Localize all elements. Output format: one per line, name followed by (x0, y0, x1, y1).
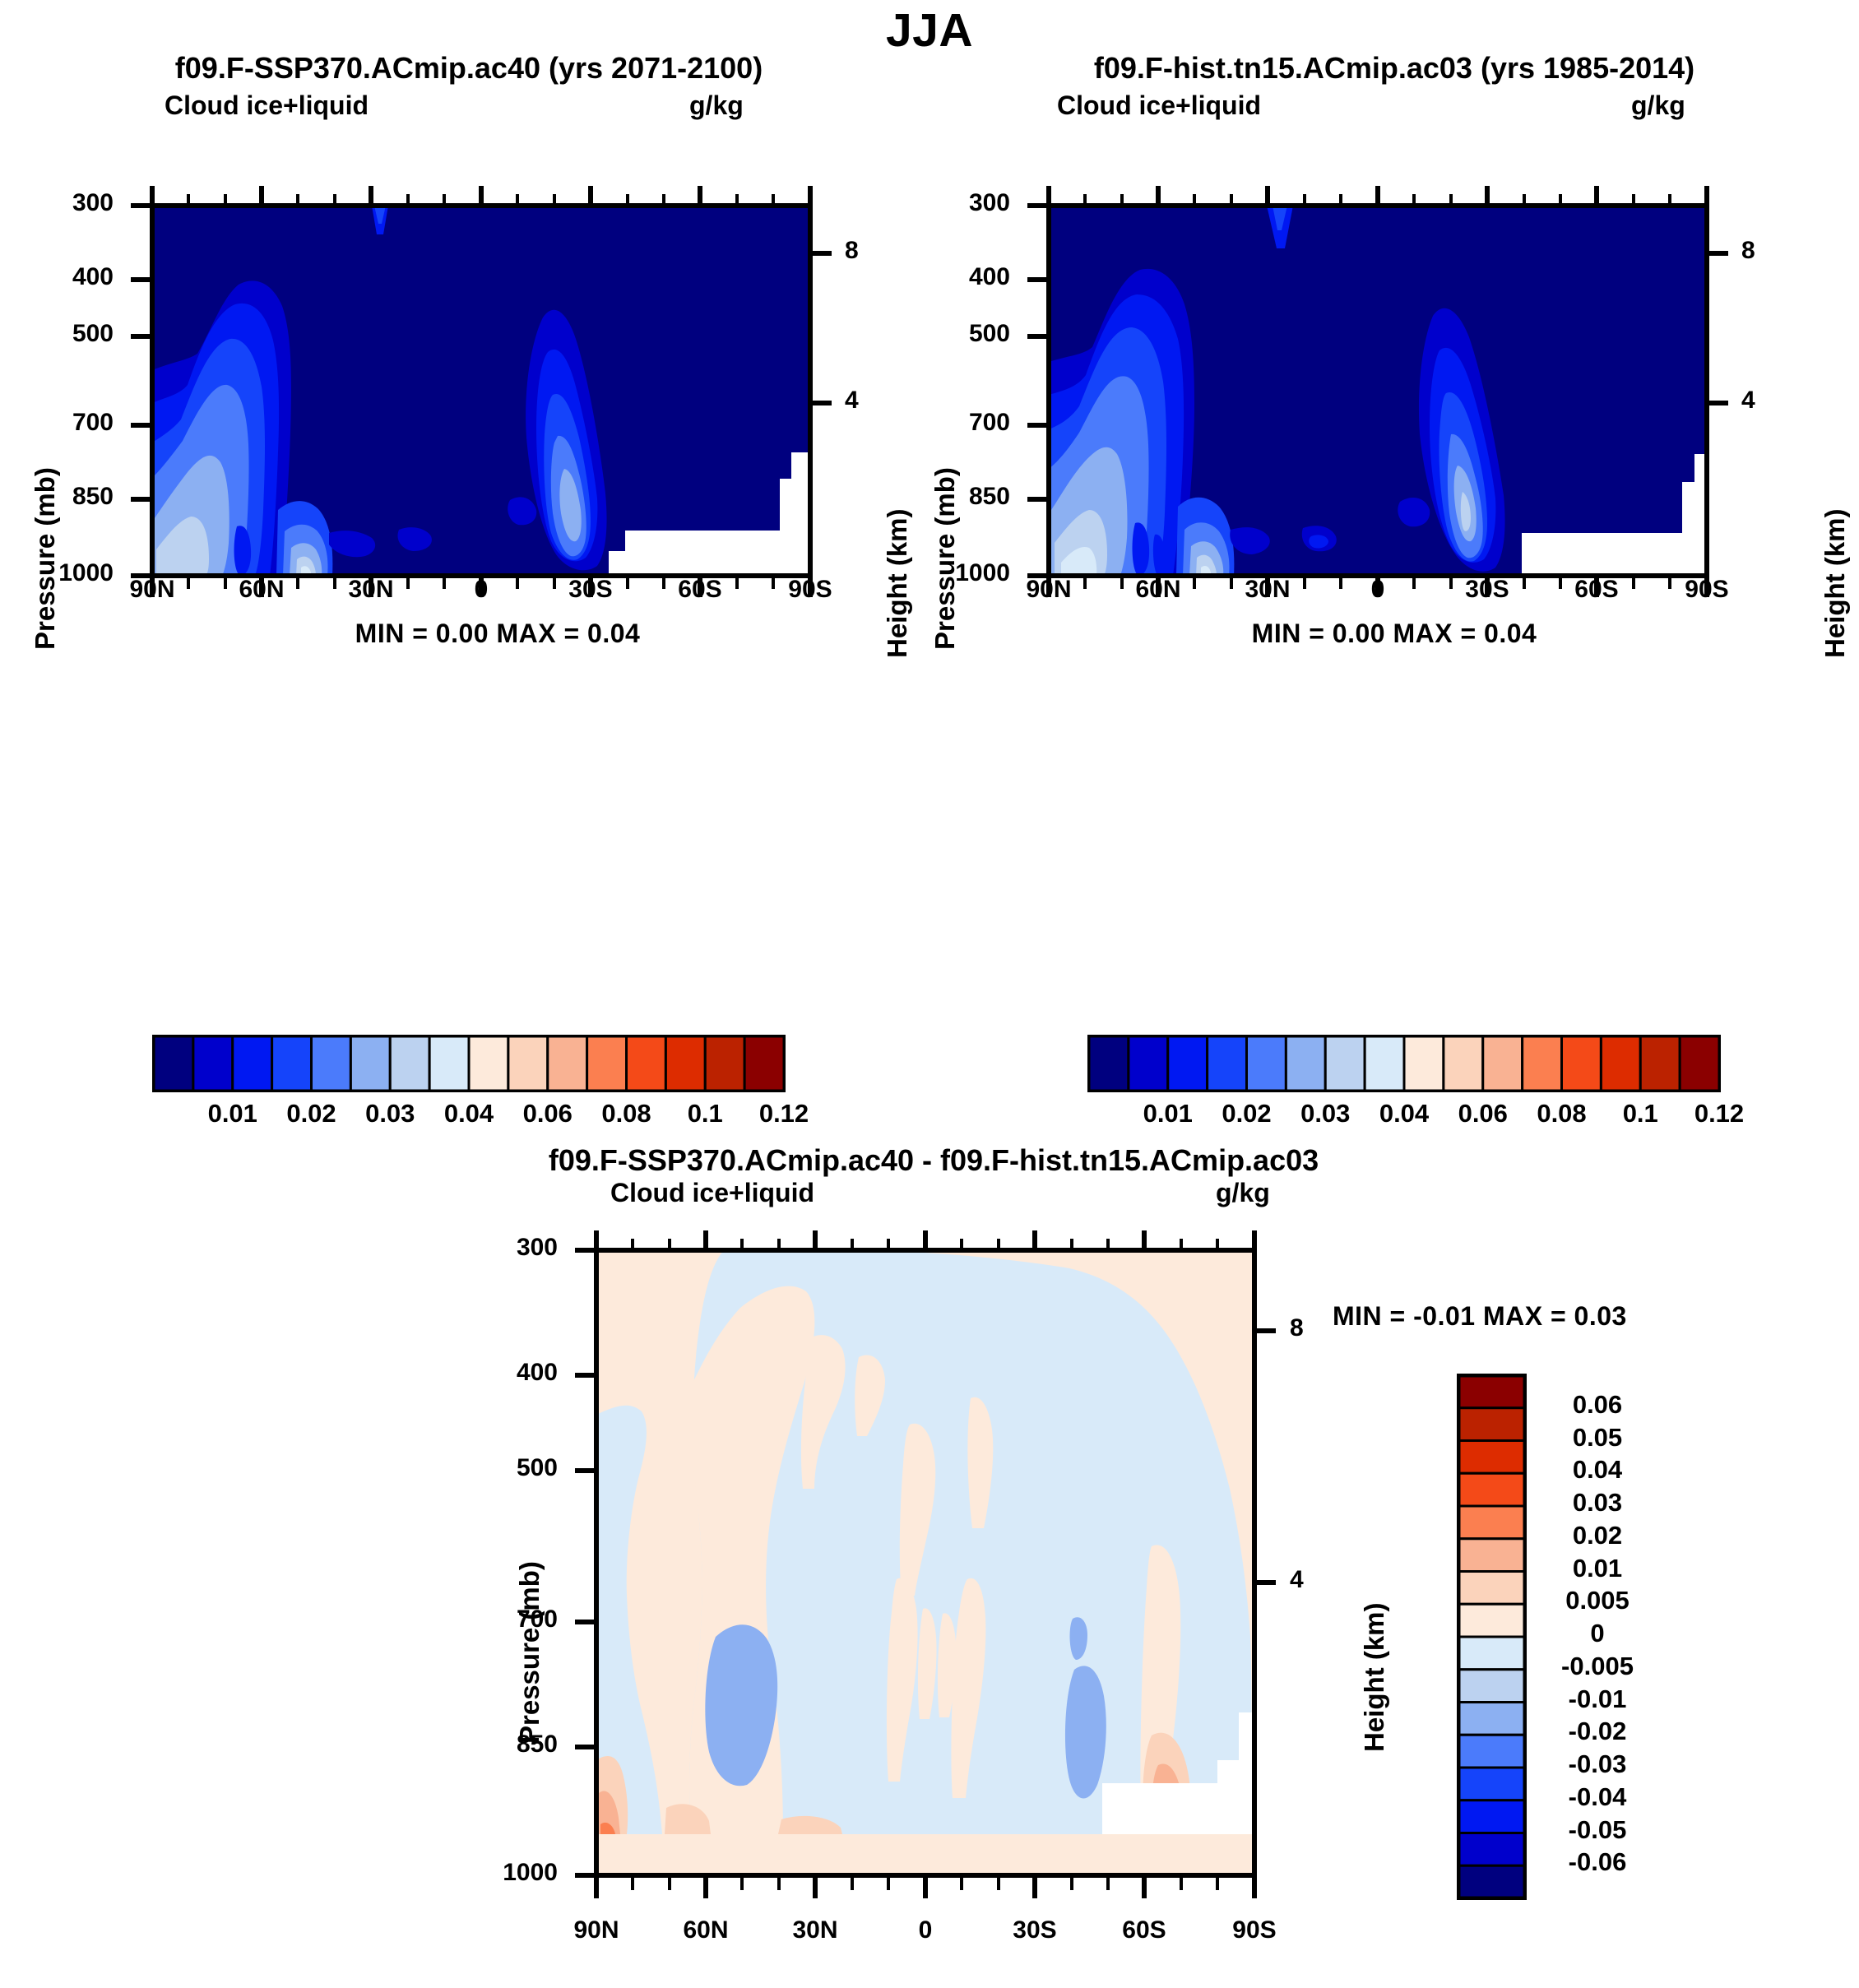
colorbar-tick-label: 0.02 (1532, 1521, 1663, 1550)
colorbar-swatch (390, 1036, 429, 1091)
colorbar-swatch (233, 1036, 272, 1091)
xtick-30N-top-left: 30N (322, 576, 420, 604)
minmax-bottom: MIN = -0.01 MAX = 0.03 (1333, 1301, 1627, 1332)
colorbar-tick-label: 0.04 (1532, 1455, 1663, 1485)
panel-title-bottom: f09.F-SSP370.ACmip.ac40 - f09.F-hist.tn1… (387, 1143, 1481, 1178)
colorbar-labels-top-left: 0.010.020.030.040.060.080.10.12 (152, 1099, 786, 1135)
colorbar-tick-label: 0 (1532, 1619, 1663, 1648)
colorbar-swatch (1458, 1800, 1525, 1833)
variable-label-top-right: Cloud ice+liquid (1057, 90, 1261, 121)
colorbar-swatch (1458, 1408, 1525, 1441)
xtick-0-top-right: 0 (1328, 576, 1427, 604)
variable-label-top-left: Cloud ice+liquid (165, 90, 369, 121)
colorbar-swatch (1458, 1375, 1525, 1408)
colorbar-bottom[interactable] (1457, 1374, 1527, 1900)
variable-label-bottom: Cloud ice+liquid (610, 1178, 814, 1208)
colorbar-tick-label: 0.03 (1280, 1099, 1370, 1128)
xtick-30N-bottom: 30N (766, 1916, 865, 1944)
colorbar-tick-label: 0.12 (1674, 1099, 1764, 1128)
ytick-700-bottom: 700 (492, 1606, 558, 1633)
minmax-top-left: MIN = 0.00 MAX = 0.04 (82, 619, 913, 649)
colorbar-swatch (1458, 1506, 1525, 1539)
colorbar-swatch (1458, 1833, 1525, 1866)
colorbar-swatch (1483, 1036, 1523, 1091)
units-label-top-right: g/kg (1631, 90, 1685, 121)
colorbar-tick-label: 0.05 (1532, 1423, 1663, 1453)
y2axis-title-top-right: Height (km) (1820, 509, 1851, 659)
ytick-850-bottom: 850 (492, 1731, 558, 1759)
xtick-60S-bottom: 60S (1095, 1916, 1194, 1944)
colorbar-tick-label: 0.01 (1532, 1554, 1663, 1583)
colorbar-swatch (744, 1036, 784, 1091)
colorbar-swatch (1680, 1036, 1719, 1091)
colorbar-swatch (1444, 1036, 1483, 1091)
colorbar-swatch (429, 1036, 469, 1091)
colorbar-swatch (705, 1036, 744, 1091)
ytick-700-top-left: 700 (48, 409, 114, 437)
colorbar-swatch (350, 1036, 390, 1091)
colorbar-swatch (1458, 1572, 1525, 1605)
ytick-1000-bottom: 1000 (475, 1859, 558, 1887)
colorbar-tick-label: 0.01 (1123, 1099, 1213, 1128)
colorbar-swatch (1458, 1735, 1525, 1768)
units-label-top-left: g/kg (689, 90, 744, 121)
colorbar-tick-label: 0.02 (1202, 1099, 1292, 1128)
colorbar-tick-label: 0.06 (1532, 1390, 1663, 1420)
colorbar-tick-label: 0.08 (582, 1099, 672, 1128)
colorbar-swatch (1458, 1865, 1525, 1898)
ytick-1000-top-right: 1000 (928, 559, 1010, 587)
colorbar-swatch (1365, 1036, 1404, 1091)
panel-title-top-left: f09.F-SSP370.ACmip.ac40 (yrs 2071-2100) (49, 51, 888, 86)
colorbar-tick-label: 0.04 (424, 1099, 514, 1128)
ytick-300-bottom: 300 (492, 1234, 558, 1262)
colorbar-swatch (1458, 1637, 1525, 1670)
ytick-400-top-right: 400 (944, 263, 1010, 291)
colorbar-tick-label: -0.03 (1532, 1749, 1663, 1779)
colorbar-swatch (548, 1036, 587, 1091)
plot-bottom (526, 1209, 1357, 1933)
ytick-300-top-left: 300 (48, 189, 114, 217)
ytick-1000-top-left: 1000 (31, 559, 114, 587)
xtick-90S-bottom: 90S (1205, 1916, 1304, 1944)
ytick-400-top-left: 400 (48, 263, 114, 291)
colorbar-tick-label: -0.06 (1532, 1847, 1663, 1877)
xtick-60S-top-right: 60S (1547, 576, 1646, 604)
xtick-30S-top-right: 30S (1438, 576, 1537, 604)
ytick-500-top-right: 500 (944, 320, 1010, 348)
xtick-30S-top-left: 30S (541, 576, 640, 604)
xtick-90S-top-right: 90S (1657, 576, 1756, 604)
colorbar-swatch (1458, 1670, 1525, 1703)
htick-4-top-left: 4 (845, 387, 859, 415)
colorbar-tick-label: 0.06 (503, 1099, 593, 1128)
colorbar-swatch (1458, 1539, 1525, 1572)
y2axis-title-bottom: Height (km) (1359, 1603, 1390, 1753)
xtick-90N-top-left: 90N (103, 576, 202, 604)
xtick-90N-top-right: 90N (999, 576, 1098, 604)
htick-4-bottom: 4 (1290, 1566, 1304, 1594)
ytick-850-top-left: 850 (48, 483, 114, 511)
colorbar-swatch (508, 1036, 548, 1091)
colorbar-swatch (469, 1036, 508, 1091)
colorbar-tick-label: 0.02 (267, 1099, 357, 1128)
colorbar-swatch (1562, 1036, 1602, 1091)
colorbar-tick-label: 0.01 (188, 1099, 278, 1128)
figure-title: JJA (0, 3, 1859, 58)
plot-top-right (979, 123, 1810, 633)
colorbar-tick-label: -0.01 (1532, 1684, 1663, 1714)
colorbar-tick-label: 0.1 (1595, 1099, 1685, 1128)
colorbar-labels-top-right: 0.010.020.030.040.060.080.10.12 (1087, 1099, 1721, 1135)
colorbar-tick-label: 0.12 (739, 1099, 829, 1128)
xtick-60N-top-right: 60N (1109, 576, 1208, 604)
colorbar-tick-label: 0.1 (660, 1099, 750, 1128)
xtick-60N-bottom: 60N (656, 1916, 755, 1944)
htick-8-top-left: 8 (845, 237, 859, 265)
colorbar-tick-label: 0.03 (1532, 1488, 1663, 1518)
colorbar-tick-label: 0.03 (345, 1099, 435, 1128)
colorbar-swatch (154, 1036, 193, 1091)
colorbar-swatch (627, 1036, 666, 1091)
htick-8-bottom: 8 (1290, 1314, 1304, 1342)
colorbar-swatch (1247, 1036, 1286, 1091)
colorbar-swatch (665, 1036, 705, 1091)
ytick-850-top-right: 850 (944, 483, 1010, 511)
colorbar-swatch (312, 1036, 351, 1091)
colorbar-tick-label: 0.06 (1438, 1099, 1528, 1128)
colorbar-top-right[interactable] (1087, 1035, 1721, 1092)
panel-title-top-right: f09.F-hist.tn15.ACmip.ac03 (yrs 1985-201… (958, 51, 1830, 86)
xtick-0-bottom: 0 (876, 1916, 975, 1944)
colorbar-tick-label: 0.005 (1532, 1586, 1663, 1615)
colorbar-swatch (1523, 1036, 1562, 1091)
units-label-bottom: g/kg (1216, 1178, 1270, 1208)
colorbar-swatch (1325, 1036, 1365, 1091)
plot-top-left (82, 123, 913, 633)
colorbar-swatch (1286, 1036, 1325, 1091)
colorbar-tick-label: -0.02 (1532, 1717, 1663, 1746)
colorbar-swatch (1129, 1036, 1168, 1091)
ytick-400-bottom: 400 (492, 1359, 558, 1387)
colorbar-tick-label: -0.005 (1532, 1652, 1663, 1681)
colorbar-swatch (1458, 1441, 1525, 1474)
ytick-700-top-right: 700 (944, 409, 1010, 437)
ytick-500-top-left: 500 (48, 320, 114, 348)
colorbar-labels-bottom: 0.060.050.040.030.020.010.0050-0.005-0.0… (1532, 1374, 1729, 1900)
htick-4-top-right: 4 (1741, 387, 1755, 415)
colorbar-tick-label: -0.05 (1532, 1815, 1663, 1845)
colorbar-swatch (1208, 1036, 1247, 1091)
colorbar-swatch (1404, 1036, 1444, 1091)
colorbar-tick-label: -0.04 (1532, 1782, 1663, 1812)
colorbar-swatch (1168, 1036, 1208, 1091)
colorbar-tick-label: 0.04 (1359, 1099, 1449, 1128)
minmax-top-right: MIN = 0.00 MAX = 0.04 (979, 619, 1810, 649)
htick-8-top-right: 8 (1741, 237, 1755, 265)
xtick-60S-top-left: 60S (651, 576, 749, 604)
colorbar-swatch (1458, 1768, 1525, 1800)
colorbar-swatch (193, 1036, 233, 1091)
colorbar-top-left[interactable] (152, 1035, 786, 1092)
colorbar-swatch (1089, 1036, 1129, 1091)
colorbar-swatch (1458, 1473, 1525, 1506)
xtick-0-top-left: 0 (432, 576, 531, 604)
colorbar-swatch (1640, 1036, 1680, 1091)
colorbar-swatch (1601, 1036, 1640, 1091)
colorbar-swatch (1458, 1703, 1525, 1735)
xtick-60N-top-left: 60N (212, 576, 311, 604)
ytick-500-bottom: 500 (492, 1454, 558, 1482)
xtick-90N-bottom: 90N (547, 1916, 646, 1944)
colorbar-tick-label: 0.08 (1517, 1099, 1607, 1128)
colorbar-swatch (272, 1036, 312, 1091)
xtick-30S-bottom: 30S (985, 1916, 1084, 1944)
xtick-90S-top-left: 90S (761, 576, 860, 604)
ytick-300-top-right: 300 (944, 189, 1010, 217)
xtick-30N-top-right: 30N (1218, 576, 1317, 604)
colorbar-swatch (587, 1036, 627, 1091)
colorbar-swatch (1458, 1604, 1525, 1637)
